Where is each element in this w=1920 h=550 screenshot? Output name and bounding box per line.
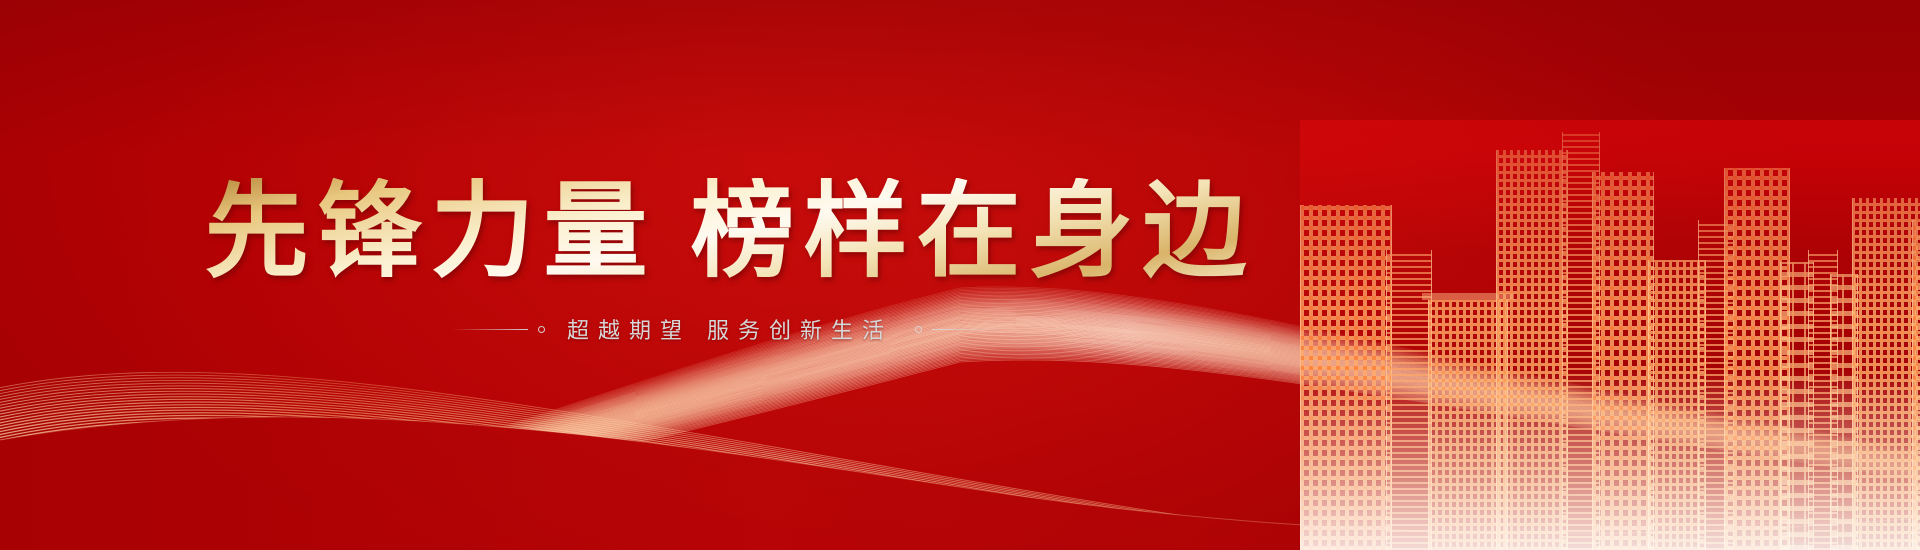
- headline-part-2: 榜样在身边: [691, 175, 1256, 290]
- subtitle-part-2: 服务创新生活: [707, 318, 893, 343]
- building-edge: [1496, 150, 1497, 550]
- building-edge: [1780, 262, 1781, 550]
- decorative-dot-right: [915, 326, 922, 333]
- building-edge: [1562, 132, 1563, 550]
- decorative-line-left: [452, 329, 528, 330]
- promotional-banner: 先锋力量榜样在身边 超越期望服务创新生活: [0, 0, 1920, 550]
- banner-text-block: 先锋力量榜样在身边 超越期望服务创新生活: [0, 178, 1460, 345]
- building-edge: [1648, 260, 1649, 550]
- building: [1496, 150, 1568, 550]
- building: [1852, 198, 1920, 550]
- building: [1592, 172, 1654, 550]
- subtitle: 超越期望服务创新生活: [555, 313, 905, 345]
- building-edge: [1830, 274, 1831, 550]
- building-edge: [1852, 198, 1853, 550]
- headline: 先锋力量榜样在身边: [204, 178, 1255, 287]
- building-edge: [1724, 168, 1725, 550]
- building-edge: [1808, 250, 1809, 550]
- decorative-dot-left: [538, 326, 545, 333]
- headline-part-1: 先锋力量: [204, 175, 656, 290]
- decorative-line-right: [932, 329, 1008, 330]
- building-edge: [1698, 220, 1699, 550]
- building-edge: [1592, 172, 1593, 550]
- building: [1912, 220, 1920, 550]
- subtitle-part-1: 超越期望: [567, 318, 691, 343]
- subtitle-row: 超越期望服务创新生活: [0, 313, 1460, 345]
- building-edge: [1912, 220, 1913, 550]
